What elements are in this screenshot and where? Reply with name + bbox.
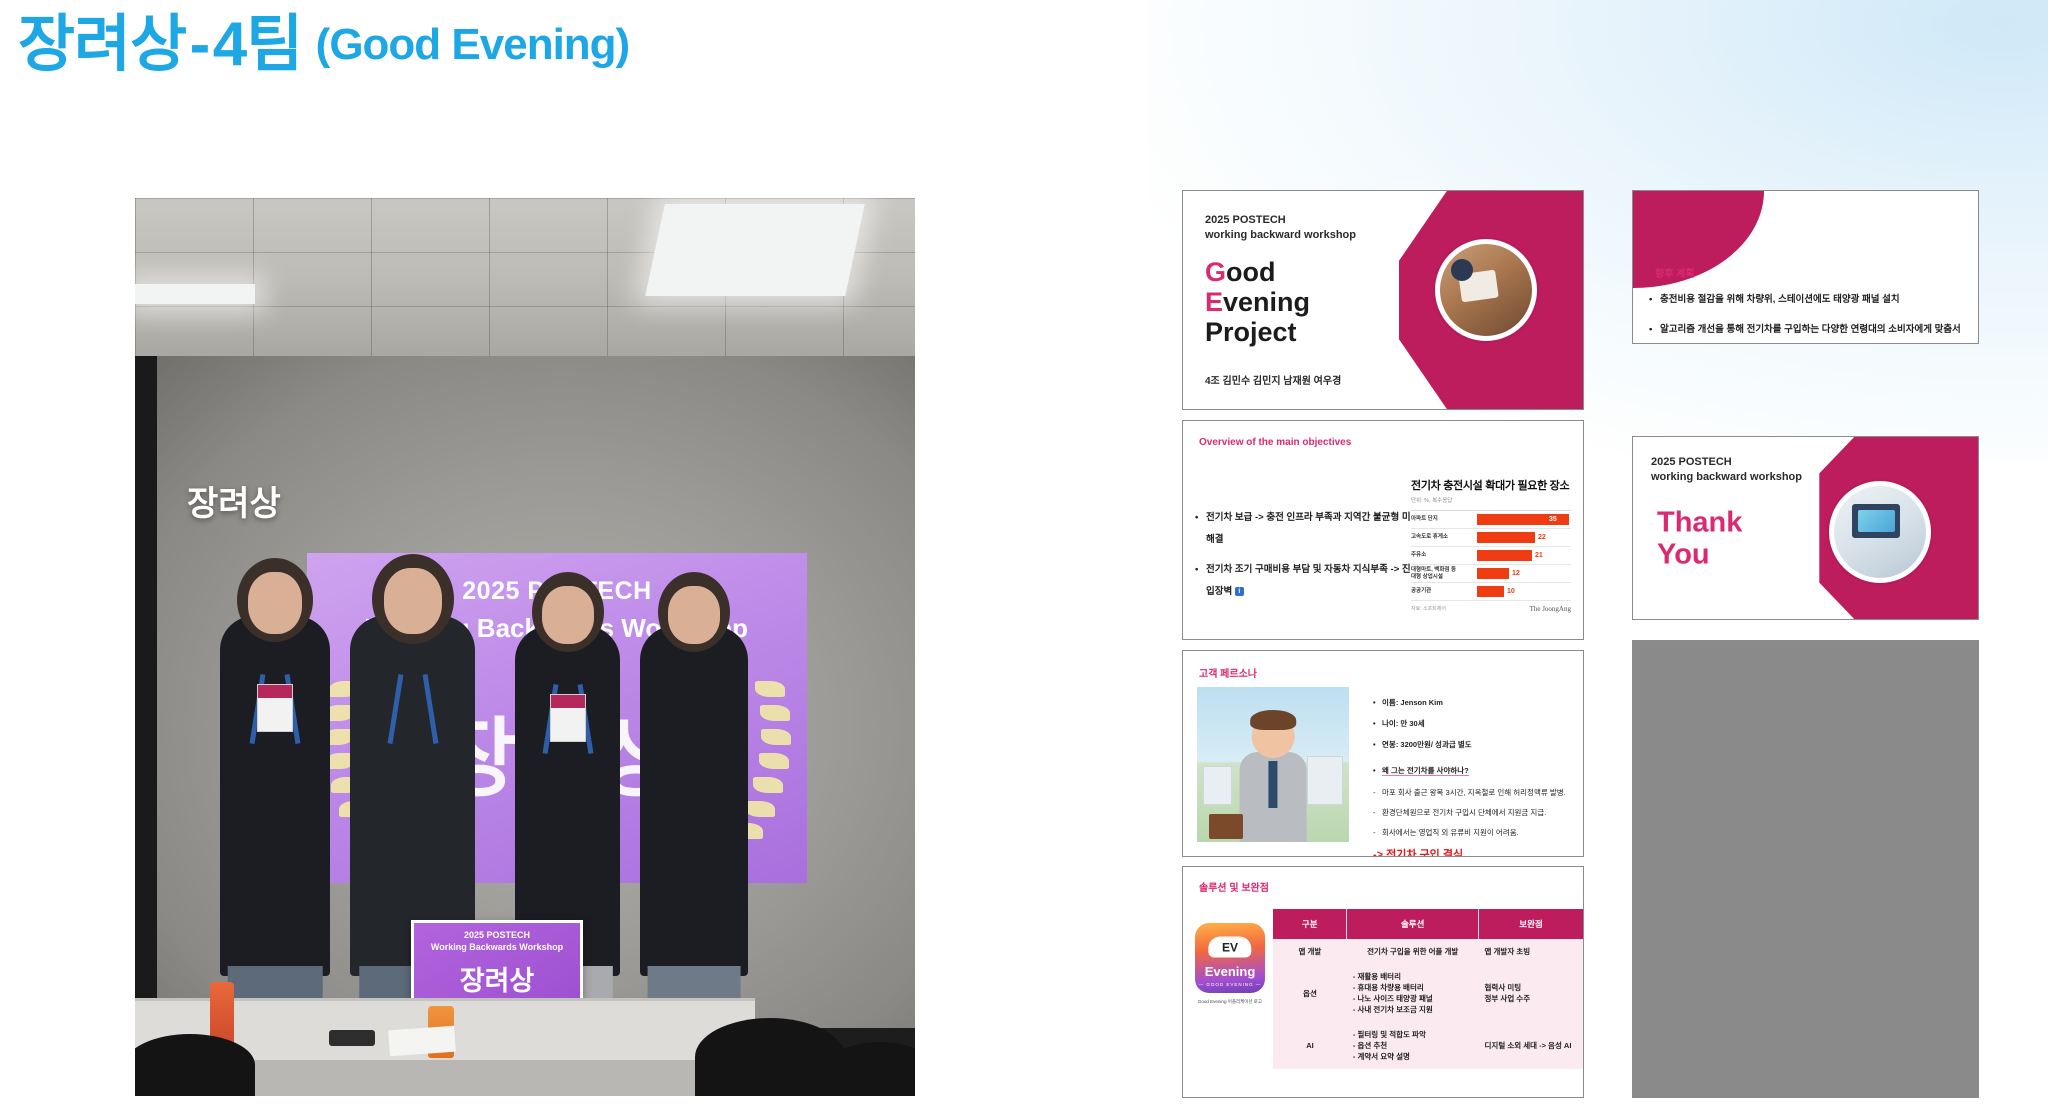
title-project: Project [1205, 317, 1310, 347]
kicker-line1: 2025 POSTECH [1651, 455, 1802, 470]
person-head [237, 558, 313, 642]
page-title: 장려상 - 4팀 (Good Evening) [18, 10, 629, 80]
slide-authors: 4조 김민수 김민지 남재원 여우경 [1205, 372, 1341, 387]
person-face [668, 586, 720, 644]
app-wordmark: Evening [1195, 964, 1265, 979]
ev-charger-chart: 전기차 충전시설 확대가 필요한 장소 단위: %, 복수응답 아파트 단지 3… [1411, 477, 1571, 622]
thanks-line1: Thank [1657, 506, 1742, 538]
wall-edge [135, 356, 157, 1028]
projected-award-label: 장려상 [187, 476, 281, 525]
page-title-separator: - [190, 10, 210, 79]
cell-category: AI [1273, 1022, 1347, 1069]
award-ceremony-photo: 장려상 2025 POSTECH Working Backwards Works… [135, 198, 915, 1096]
chart-bar [1477, 550, 1532, 561]
table-header-row: 구분 솔루션 보완점 [1273, 909, 1583, 939]
person [640, 626, 748, 976]
chart-category: 공공기관 [1411, 588, 1477, 595]
cell-solution: 전기차 구입을 위한 어플 개발 [1347, 939, 1479, 964]
magenta-arc [1633, 191, 1764, 288]
slide-overview[interactable]: Overview of the main objectives 전기차 보급 -… [1182, 420, 1584, 640]
slide-title[interactable]: 2025 POSTECH working backward workshop G… [1182, 190, 1584, 410]
phone [329, 1030, 375, 1046]
persona-reason: 마포 회사 출근 왕복 3시간, 지옥철로 인해 허리정맥류 발병. [1373, 785, 1569, 800]
person-head [658, 572, 730, 652]
slide-future-kicker: 향후 계획 [1655, 265, 1695, 280]
persona-fact: 나이: 만 30세 [1373, 716, 1569, 731]
placeholder-block [1632, 640, 1979, 1098]
ceiling-light [135, 284, 255, 304]
page-title-award: 장려상 [18, 10, 186, 79]
persona-question: 왜 그는 전기차를 사야하나? [1373, 763, 1569, 778]
page-title-team: 4팀 [213, 10, 303, 79]
col-improvement: 보완점 [1479, 909, 1583, 939]
chart-row: 아파트 단지 35 [1411, 511, 1571, 529]
list-item: 전기차 조기 구매비용 부담 및 자동차 지식부족 -> 진입장벽 i [1195, 559, 1415, 603]
placard-line2: Working Backwards Workshop [414, 942, 580, 952]
chart-title: 전기차 충전시설 확대가 필요한 장소 [1411, 477, 1571, 493]
page-title-project: (Good Evening) [316, 20, 630, 69]
persona-details: 이름: Jenson Kim 나이: 만 30세 연봉: 3200만원/ 성과급… [1373, 695, 1569, 857]
chart-value: 21 [1535, 552, 1543, 559]
briefcase-icon [1209, 814, 1242, 839]
title-ood: ood [1226, 257, 1275, 287]
list-item: 충전비용 절감을 위해 차량위, 스테이션에도 태양광 패널 설치 [1649, 289, 1967, 311]
chart-category: 주유소 [1411, 552, 1477, 559]
chart-footer: 자료: 소프트체어 The JoongAng [1411, 605, 1571, 613]
desk-photo [1829, 481, 1931, 583]
list-item: 알고리즘 개선을 통해 전기차를 구입하는 다양한 연령대의 소비자에게 맞춤서… [1649, 319, 1967, 344]
person-head [532, 572, 604, 652]
slide-thank-you[interactable]: 2025 POSTECH working backward workshop T… [1632, 436, 1979, 620]
slide-future-plan[interactable]: 향후 계획 충전비용 절감을 위해 차량위, 스테이션에도 태양광 패널 설치 … [1632, 190, 1979, 344]
kicker-line2: working backward workshop [1205, 228, 1356, 243]
table-row: AI - 필터링 및 적합도 파악 - 옵션 추천 - 계약서 요약 설명 디지… [1273, 1022, 1583, 1069]
thanks-line2: You [1657, 538, 1742, 570]
persona-tie [1268, 761, 1277, 808]
name-badge [550, 694, 586, 742]
person-head [372, 554, 454, 644]
audience-silhouette [825, 1042, 915, 1096]
chart-value: 12 [1512, 570, 1520, 577]
chart-unit-note: 단위: %, 복수응답 [1411, 496, 1571, 504]
app-logo: EV Evening — GOOD EVENING — [1195, 923, 1265, 993]
persona-fact: 이름: Jenson Kim [1373, 695, 1569, 710]
chart-bar [1477, 568, 1509, 579]
persona-fact: 연봉: 3200만원/ 성과급 별도 [1373, 737, 1569, 752]
persona-reason: 회사에서는 영업직 외 유류비 지원이 어려움. [1373, 825, 1569, 840]
building [1307, 756, 1342, 805]
chart-category: 아파트 단지 [1411, 516, 1477, 523]
cell-category: 옵션 [1273, 964, 1347, 1022]
ev-car-icon: EV [1208, 936, 1251, 957]
table-row: 옵션 - 재활용 배터리 - 휴대용 차량용 배터리 - 나노 사이즈 태양광 … [1273, 964, 1583, 1022]
chart-value: 22 [1538, 534, 1546, 541]
col-solution: 솔루션 [1347, 909, 1479, 939]
chart-brand: The JoongAng [1530, 605, 1571, 613]
chart-row: 주유소 21 [1411, 547, 1571, 565]
chart-category: 대형마트, 백화점 등 대형 상업시설 [1411, 567, 1477, 581]
slide-solution-kicker: 솔루션 및 보완점 [1199, 879, 1269, 894]
building [1203, 766, 1232, 805]
slide-thanks-kicker: 2025 POSTECH working backward workshop [1651, 455, 1802, 485]
placard-line1: 2025 POSTECH [414, 930, 580, 940]
persona-hair [1250, 710, 1296, 730]
cell-improvement: 협력사 미팅 정부 사업 수주 [1479, 964, 1583, 1022]
slide-title-heading: Good Evening Project [1205, 257, 1310, 347]
name-badge [257, 684, 293, 732]
chart-bar [1477, 532, 1535, 543]
person-face [248, 572, 302, 634]
list-item: 전기차 보급 -> 충전 인프라 부족과 지역간 불균형 미해결 [1195, 507, 1415, 551]
chart-value: 35 [1549, 516, 1557, 523]
ceiling [135, 198, 915, 358]
thank-you-heading: Thank You [1657, 506, 1742, 570]
title-g: G [1205, 257, 1226, 287]
audience-silhouette [695, 1018, 845, 1096]
slide-overview-kicker: Overview of the main objectives [1199, 437, 1351, 448]
person [220, 616, 330, 976]
future-bullets: 충전비용 절감을 위해 차량위, 스테이션에도 태양광 패널 설치 알고리즘 개… [1649, 289, 1967, 344]
solution-table: 구분 솔루션 보완점 앱 개발 전기차 구입을 위한 어플 개발 앱 개발자 초… [1273, 909, 1583, 1069]
chart-source: 자료: 소프트체어 [1411, 605, 1446, 613]
paper-sheet [388, 1026, 456, 1057]
col-category: 구분 [1273, 909, 1347, 939]
chart-bars: 아파트 단지 35 고속도로 휴게소 22 주유소 21 대형마트, 백화점 등… [1411, 510, 1571, 601]
person-face [542, 586, 594, 644]
slide-persona[interactable]: 고객 페르소나 이름: Jenson Kim 나이: 만 30세 연봉: 320… [1182, 650, 1584, 857]
ceiling-light [645, 204, 865, 296]
slide-title-kicker: 2025 POSTECH working backward workshop [1205, 213, 1356, 243]
title-e: E [1205, 287, 1223, 317]
lanyard [387, 674, 439, 770]
cell-category: 앱 개발 [1273, 939, 1347, 964]
chart-row: 공공기관 10 [1411, 583, 1571, 601]
info-icon: i [1235, 587, 1244, 596]
meeting-photo [1435, 239, 1537, 341]
cell-solution: - 필터링 및 적합도 파악 - 옵션 추천 - 계약서 요약 설명 [1347, 1022, 1479, 1069]
chart-row: 고속도로 휴게소 22 [1411, 529, 1571, 547]
kicker-line1: 2025 POSTECH [1205, 213, 1356, 228]
ev-label: EV [1222, 940, 1238, 954]
persona-reason: 환경단체원으로 전기차 구입시 단체에서 지원금 지급. [1373, 805, 1569, 820]
chart-value: 10 [1507, 588, 1515, 595]
app-tagline: — GOOD EVENING — [1195, 982, 1265, 987]
overview-bullets: 전기차 보급 -> 충전 인프라 부족과 지역간 불균형 미해결 전기차 조기 … [1195, 507, 1415, 611]
table-row: 앱 개발 전기차 구입을 위한 어플 개발 앱 개발자 초빙 [1273, 939, 1583, 964]
persona-illustration [1197, 687, 1349, 842]
slide-solution[interactable]: 솔루션 및 보완점 EV Evening — GOOD EVENING — Go… [1182, 866, 1584, 1098]
chart-bar [1477, 586, 1504, 597]
chart-category: 고속도로 휴게소 [1411, 534, 1477, 541]
cell-solution: - 재활용 배터리 - 휴대용 차량용 배터리 - 나노 사이즈 태양광 패널 … [1347, 964, 1479, 1022]
persona-conclusion: -> 전기차 구입 결심. [1373, 848, 1569, 857]
person-face [384, 568, 442, 634]
placard-award: 장려상 [414, 959, 580, 998]
app-logo-caption: Good Evening 어플리케이션 로고 [1187, 999, 1273, 1005]
cell-improvement: 앱 개발자 초빙 [1479, 939, 1583, 964]
audience-silhouette [135, 1034, 255, 1096]
chart-row: 대형마트, 백화점 등 대형 상업시설 12 [1411, 565, 1571, 583]
title-vening: vening [1223, 287, 1310, 317]
kicker-line2: working backward workshop [1651, 470, 1802, 485]
cell-improvement: 디지털 소외 세대 -> 음성 AI [1479, 1022, 1583, 1069]
slide-persona-kicker: 고객 페르소나 [1199, 665, 1257, 680]
